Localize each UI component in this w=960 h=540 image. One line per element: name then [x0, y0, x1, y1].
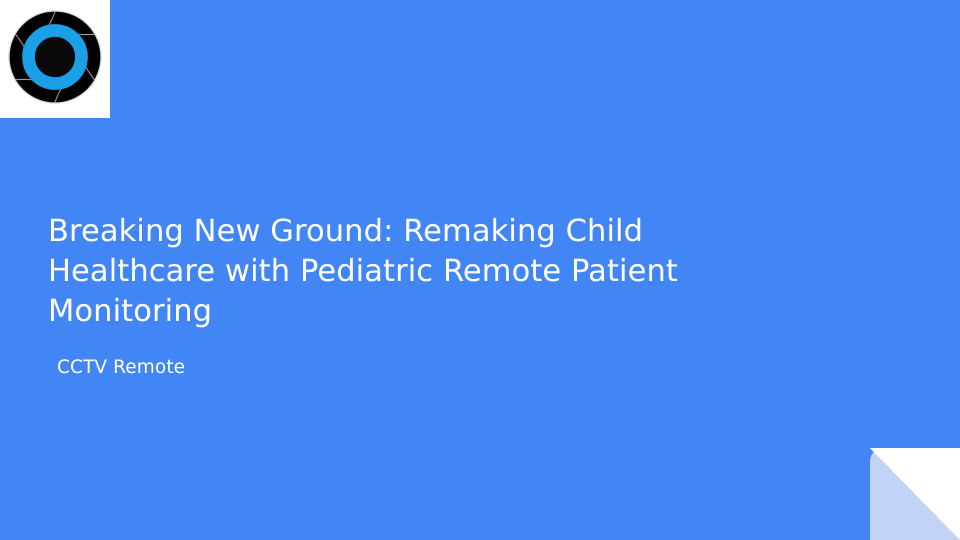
corner-fold	[870, 448, 960, 540]
title-block: Breaking New Ground: Remaking Child Heal…	[48, 212, 788, 381]
presentation-slide: Breaking New Ground: Remaking Child Heal…	[0, 0, 960, 540]
slide-subtitle: CCTV Remote	[48, 332, 788, 381]
logo-plate	[0, 0, 110, 118]
page-title: Breaking New Ground: Remaking Child Heal…	[48, 212, 788, 332]
camera-aperture-icon	[6, 12, 104, 106]
folded-corner-decoration	[870, 448, 960, 540]
